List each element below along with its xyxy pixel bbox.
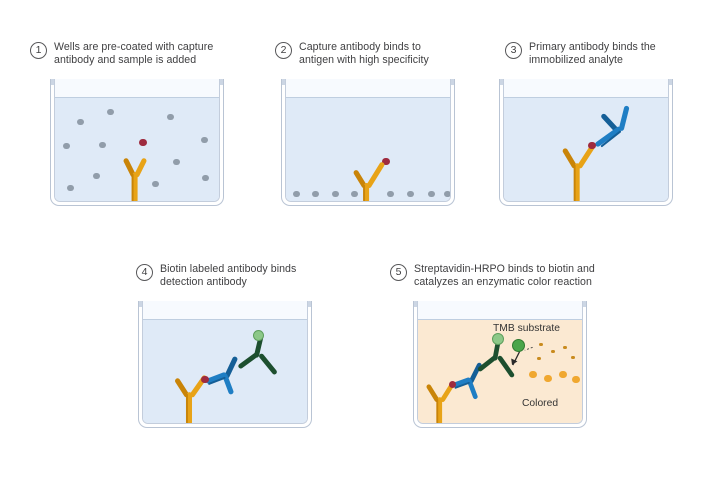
well-4	[138, 301, 312, 428]
colored-product-dot	[544, 375, 552, 383]
antigen-particle	[139, 139, 147, 147]
antigen-bound	[201, 376, 209, 384]
colored-product-dot	[529, 371, 537, 379]
well-1	[50, 79, 224, 206]
colored-product-label-line2: product	[522, 423, 558, 424]
step-5-caption-line1: Streptavidin-HRPO binds to biotin and	[414, 263, 595, 276]
step-5-number: 5	[390, 264, 407, 281]
sample-particle	[387, 191, 394, 198]
well-3-liquid	[504, 97, 668, 201]
tmb-substrate-dot	[571, 356, 575, 360]
step-2: 2 Capture antibody binds to antigen with…	[275, 41, 490, 206]
detection-antibody-biotin	[241, 338, 275, 372]
step-5-header: 5 Streptavidin-HRPO binds to biotin and …	[390, 263, 650, 290]
step-3-header: 3 Primary antibody binds the immobilized…	[505, 41, 710, 68]
step-5-caption: Streptavidin-HRPO binds to biotin and ca…	[414, 263, 595, 290]
step-5-caption-line2: catalyzes an enzymatic color reaction	[414, 276, 595, 289]
sample-particle	[407, 191, 414, 198]
well-3-molecules	[504, 97, 668, 201]
sample-particle	[63, 143, 70, 150]
primary-antibody-3	[598, 108, 627, 146]
sample-particle	[107, 109, 114, 116]
step-2-caption: Capture antibody binds to antigen with h…	[299, 41, 429, 68]
step-4-header: 4 Biotin labeled antibody binds detectio…	[136, 263, 351, 290]
sample-particle	[167, 114, 174, 121]
step-1-number: 1	[30, 42, 47, 59]
sample-particle	[444, 191, 451, 198]
sample-particle	[93, 173, 100, 180]
step-3-caption: Primary antibody binds the immobilized a…	[529, 41, 656, 68]
well-5-liquid-surface	[418, 319, 582, 320]
step-3-caption-line2: immobilized analyte	[529, 54, 656, 67]
step-1-header: 1 Wells are pre-coated with capture anti…	[30, 41, 255, 68]
antigen-bound	[449, 381, 456, 388]
biotin-label	[253, 330, 264, 341]
streptavidin-hrpo	[512, 339, 525, 352]
sample-particle	[202, 175, 209, 182]
sample-particle	[332, 191, 339, 198]
sample-particle	[99, 142, 106, 149]
capture-antibody-4	[178, 378, 205, 422]
well-1-liquid	[55, 97, 219, 201]
well-2-molecules	[286, 97, 450, 201]
step-4-caption: Biotin labeled antibody binds detection …	[160, 263, 296, 290]
step-5: 5 Streptavidin-HRPO binds to biotin and …	[390, 263, 650, 428]
well-2-inner-wall	[285, 79, 451, 202]
antigen-bound	[588, 142, 596, 150]
capture-antibody-2	[356, 165, 382, 201]
step-4-number: 4	[136, 264, 153, 281]
tmb-substrate-label: TMB substrate	[493, 323, 560, 335]
colored-product-dot	[572, 376, 580, 384]
tmb-substrate-dot	[537, 357, 541, 361]
colored-product-label: Colored product	[522, 386, 558, 424]
well-2-liquid	[286, 97, 450, 201]
step-1: 1 Wells are pre-coated with capture anti…	[30, 41, 255, 206]
well-1-liquid-surface	[55, 97, 219, 98]
sample-particle	[312, 191, 319, 198]
sample-particle	[293, 191, 300, 198]
sample-particle	[351, 191, 358, 198]
primary-antibody-5	[455, 365, 480, 397]
well-5-inner-wall: TMB substrate Colored product	[417, 301, 583, 424]
well-5: TMB substrate Colored product	[413, 301, 587, 428]
step-3-number: 3	[505, 42, 522, 59]
step-2-caption-line2: antigen with high specificity	[299, 54, 429, 67]
step-2-header: 2 Capture antibody binds to antigen with…	[275, 41, 490, 68]
well-2-liquid-surface	[286, 97, 450, 98]
sample-particle	[428, 191, 435, 198]
capture-antibody-3	[565, 146, 593, 200]
sample-particle	[152, 181, 159, 188]
detection-antibody-5	[480, 342, 512, 375]
step-1-caption-line2: antibody and sample is added	[54, 54, 213, 67]
well-3-liquid-surface	[504, 97, 668, 98]
step-4-caption-line2: detection antibody	[160, 276, 296, 289]
step-2-number: 2	[275, 42, 292, 59]
step-4: 4 Biotin labeled antibody binds detectio…	[136, 263, 351, 428]
step-4-caption-line1: Biotin labeled antibody binds	[160, 263, 296, 276]
well-1-molecules	[55, 97, 219, 201]
capture-antibody-5	[429, 384, 453, 423]
well-1-inner-wall	[54, 79, 220, 202]
capture-antibody-1	[126, 161, 144, 201]
primary-antibody-4	[208, 359, 235, 392]
step-3: 3 Primary antibody binds the immobilized…	[505, 41, 710, 206]
tmb-substrate-dot	[563, 346, 567, 350]
well-4-molecules	[143, 319, 307, 423]
colored-product-dot	[559, 371, 567, 379]
tmb-substrate-dot	[539, 343, 543, 347]
well-4-inner-wall	[142, 301, 308, 424]
sample-particle	[77, 119, 84, 126]
sample-particle	[67, 185, 74, 192]
well-4-liquid	[143, 319, 307, 423]
well-4-liquid-surface	[143, 319, 307, 320]
well-2	[281, 79, 455, 206]
biotin-label	[492, 333, 504, 345]
elisa-diagram: 1 Wells are pre-coated with capture anti…	[0, 0, 720, 478]
antigen-bound	[382, 158, 390, 166]
colored-product-label-line1: Colored	[522, 398, 558, 410]
well-3	[499, 79, 673, 206]
step-3-caption-line1: Primary antibody binds the	[529, 41, 656, 54]
well-5-liquid: TMB substrate Colored product	[418, 319, 582, 423]
sample-particle	[173, 159, 180, 166]
step-2-caption-line1: Capture antibody binds to	[299, 41, 429, 54]
sample-particle	[201, 137, 208, 144]
step-1-caption: Wells are pre-coated with capture antibo…	[54, 41, 213, 68]
tmb-substrate-dot	[551, 350, 555, 354]
step-1-caption-line1: Wells are pre-coated with capture	[54, 41, 213, 54]
well-3-inner-wall	[503, 79, 669, 202]
